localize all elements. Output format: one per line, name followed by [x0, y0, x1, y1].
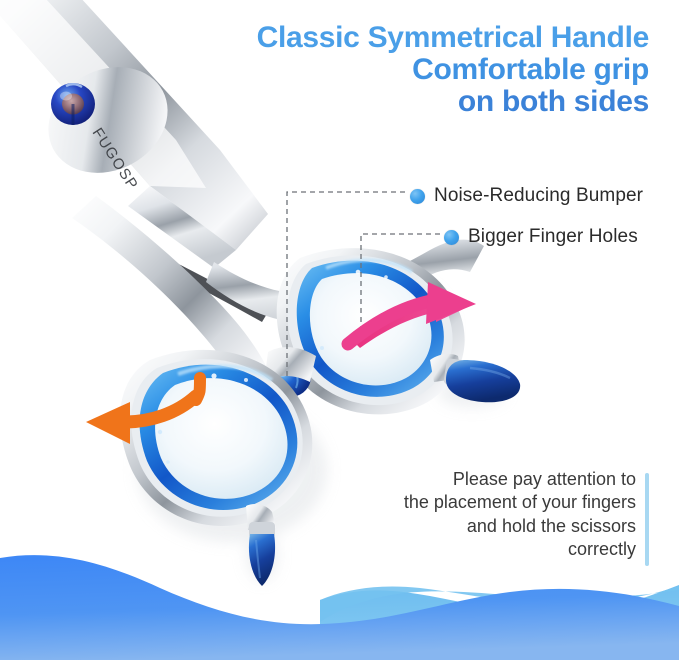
- left-rotation-arrow: [86, 378, 200, 444]
- callout-label: Bigger Finger Holes: [468, 226, 638, 248]
- right-rotation-arrow: [348, 282, 476, 348]
- headline-line-1: Classic Symmetrical Handle: [179, 22, 649, 54]
- usage-note: Please pay attention to the placement of…: [368, 468, 636, 562]
- headline: Classic Symmetrical Handle Comfortable g…: [179, 22, 649, 117]
- product-marketing-image: FUGOSP: [0, 0, 679, 660]
- note-line-4: correctly: [368, 538, 636, 561]
- callout-noise-reducing-bumper: Noise-Reducing Bumper: [410, 185, 643, 207]
- headline-line-2: Comfortable grip: [179, 54, 649, 86]
- callout-dot-icon: [444, 230, 459, 245]
- headline-line-3: on both sides: [179, 86, 649, 118]
- note-line-3: and hold the scissors: [368, 515, 636, 538]
- note-line-2: the placement of your fingers: [368, 491, 636, 514]
- note-line-1: Please pay attention to: [368, 468, 636, 491]
- callout-label: Noise-Reducing Bumper: [434, 185, 643, 207]
- note-accent-bar: [645, 473, 649, 566]
- callout-dot-icon: [410, 189, 425, 204]
- callout-bigger-finger-holes: Bigger Finger Holes: [444, 226, 638, 248]
